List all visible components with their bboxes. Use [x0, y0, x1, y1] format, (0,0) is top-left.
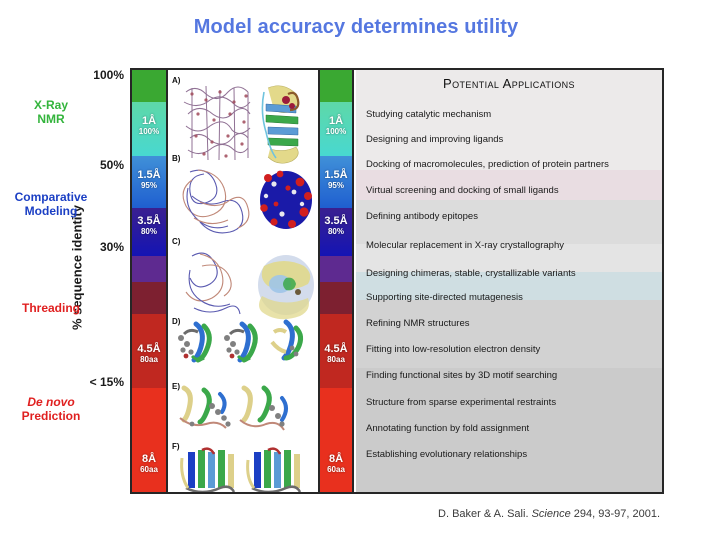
structure-a-wire: [184, 86, 250, 160]
colorbar-segment-green: [320, 70, 352, 102]
page-title: Model accuracy determines utility: [0, 16, 712, 39]
colorbar-segment-teal: 1Å100%: [132, 102, 166, 156]
structure-panel-letter: B): [172, 154, 180, 163]
application-item: Defining antibody epitopes: [366, 211, 478, 222]
structure-e-models: [180, 388, 286, 430]
colorbar-segment-label: 4.5Å80aa: [132, 344, 166, 364]
colorbar-segment-label: 1Å100%: [132, 116, 166, 136]
applications-band: [356, 200, 662, 244]
colorbar-resolution: 1.5Å: [320, 170, 352, 182]
structure-panel-letter: C): [172, 237, 180, 246]
application-item: Establishing evolutionary relationships: [366, 449, 527, 460]
method-label: De novoPrediction: [0, 395, 110, 423]
application-item: Molecular replacement in X-ray crystallo…: [366, 240, 564, 251]
method-label-line2: Modeling: [25, 204, 78, 218]
citation-journal: Science: [532, 508, 571, 520]
colorbar-segment-blue-dark: 3.5Å80%: [132, 208, 166, 256]
colorbar-resolution: 1.5Å: [132, 170, 166, 182]
applications-panel: Potential Applications Studying catalyti…: [356, 70, 662, 492]
application-item: Refining NMR structures: [366, 318, 469, 329]
citation-authors: D. Baker & A. Sali.: [438, 508, 532, 520]
colorbar-segment-label: 1Å100%: [320, 116, 352, 136]
colorbar-segment-maroon: [132, 282, 166, 314]
method-label-line1: Comparative: [15, 190, 88, 204]
colorbar-segment-red: 8Å60aa: [320, 388, 352, 492]
colorbar-segment-label: 1.5Å95%: [320, 170, 352, 190]
y-axis: % sequence identity 100%50%30%< 15% X-Ra…: [0, 68, 128, 494]
colorbar-segment-label: 3.5Å80%: [132, 216, 166, 236]
colorbar-coverage: 95%: [320, 182, 352, 190]
colorbar-segment-red: 8Å60aa: [132, 388, 166, 492]
citation-details: 294, 93-97, 2001.: [571, 508, 660, 520]
application-item: Supporting site-directed mutagenesis: [366, 292, 523, 303]
resolution-colorbar-right: 1Å100%1.5Å95%3.5Å80%4.5Å80aa8Å60aa: [318, 70, 354, 492]
method-label: ComparativeModeling: [0, 190, 110, 218]
applications-header: Potential Applications: [356, 76, 662, 91]
colorbar-coverage: 60aa: [132, 466, 166, 474]
y-axis-tick: 100%: [93, 68, 124, 82]
method-label-line2: NMR: [37, 112, 64, 126]
structure-gallery: A)B)C)D)E)F): [168, 70, 318, 492]
structure-panel-letter: A): [172, 76, 180, 85]
colorbar-segment-label: 8Å60aa: [320, 454, 352, 474]
structure-d-models: [178, 322, 301, 360]
structure-b-trace: [183, 170, 249, 233]
colorbar-segment-blue-dark: 3.5Å80%: [320, 208, 352, 256]
method-label-line1: De novo: [27, 395, 74, 409]
y-axis-tick: < 15%: [90, 375, 124, 389]
application-item: Finding functional sites by 3D motif sea…: [366, 370, 557, 381]
structure-panel-letter: E): [172, 382, 180, 391]
structure-f-models: [182, 449, 300, 492]
application-item: Designing chimeras, stable, crystallizab…: [366, 268, 576, 279]
method-label: X-RayNMR: [0, 98, 110, 126]
colorbar-resolution: 3.5Å: [320, 216, 352, 228]
resolution-colorbar-left: 1Å100%1.5Å95%3.5Å80%4.5Å80aa8Å60aa: [132, 70, 168, 492]
structure-c-trace: [186, 253, 240, 314]
colorbar-resolution: 4.5Å: [132, 344, 166, 356]
colorbar-resolution: 4.5Å: [320, 344, 352, 356]
structure-c-surface: [258, 255, 314, 319]
colorbar-segment-label: 4.5Å80aa: [320, 344, 352, 364]
colorbar-segment-label: 3.5Å80%: [320, 216, 352, 236]
colorbar-resolution: 1Å: [132, 116, 166, 128]
colorbar-segment-label: 8Å60aa: [132, 454, 166, 474]
colorbar-coverage: 80aa: [320, 356, 352, 364]
y-axis-tick: 50%: [100, 158, 124, 172]
structure-a-ribbon: [262, 86, 298, 164]
colorbar-segment-red-dark: 4.5Å80aa: [320, 314, 352, 388]
citation: D. Baker & A. Sali. Science 294, 93-97, …: [0, 508, 660, 520]
figure-frame: 1Å100%1.5Å95%3.5Å80%4.5Å80aa8Å60aa: [130, 68, 664, 494]
colorbar-segment-label: 1.5Å95%: [132, 170, 166, 190]
colorbar-segment-blue-mid: 1.5Å95%: [132, 156, 166, 208]
application-item: Docking of macromolecules, prediction of…: [366, 159, 609, 170]
application-item: Studying catalytic mechanism: [366, 109, 491, 120]
method-label-line1: Threading: [22, 301, 80, 315]
protein-structures-svg: [168, 70, 318, 492]
colorbar-segment-maroon: [320, 282, 352, 314]
colorbar-segment-red-dark: 4.5Å80aa: [132, 314, 166, 388]
colorbar-segment-blue-mid: 1.5Å95%: [320, 156, 352, 208]
structure-panel-letter: D): [172, 317, 180, 326]
colorbar-segment-purple: [132, 256, 166, 282]
method-label: Threading: [0, 301, 110, 315]
structure-panel-letter: F): [172, 442, 180, 451]
colorbar-resolution: 8Å: [320, 454, 352, 466]
method-label-line2: Prediction: [22, 409, 81, 423]
applications-band: [356, 300, 662, 368]
application-item: Designing and improving ligands: [366, 134, 503, 145]
colorbar-coverage: 95%: [132, 182, 166, 190]
colorbar-segment-green: [132, 70, 166, 102]
colorbar-coverage: 100%: [132, 128, 166, 136]
colorbar-segment-teal: 1Å100%: [320, 102, 352, 156]
colorbar-coverage: 80aa: [132, 356, 166, 364]
application-item: Fitting into low-resolution electron den…: [366, 344, 540, 355]
application-item: Annotating function by fold assignment: [366, 423, 529, 434]
application-item: Structure from sparse experimental restr…: [366, 397, 556, 408]
colorbar-resolution: 8Å: [132, 454, 166, 466]
colorbar-coverage: 100%: [320, 128, 352, 136]
y-axis-tick: 30%: [100, 240, 124, 254]
colorbar-coverage: 80%: [320, 228, 352, 236]
colorbar-resolution: 1Å: [320, 116, 352, 128]
application-item: Virtual screening and docking of small l…: [366, 185, 559, 196]
colorbar-segment-purple: [320, 256, 352, 282]
colorbar-coverage: 60aa: [320, 466, 352, 474]
structure-b-surface: [260, 171, 312, 229]
colorbar-coverage: 80%: [132, 228, 166, 236]
colorbar-resolution: 3.5Å: [132, 216, 166, 228]
method-label-line1: X-Ray: [34, 98, 68, 112]
